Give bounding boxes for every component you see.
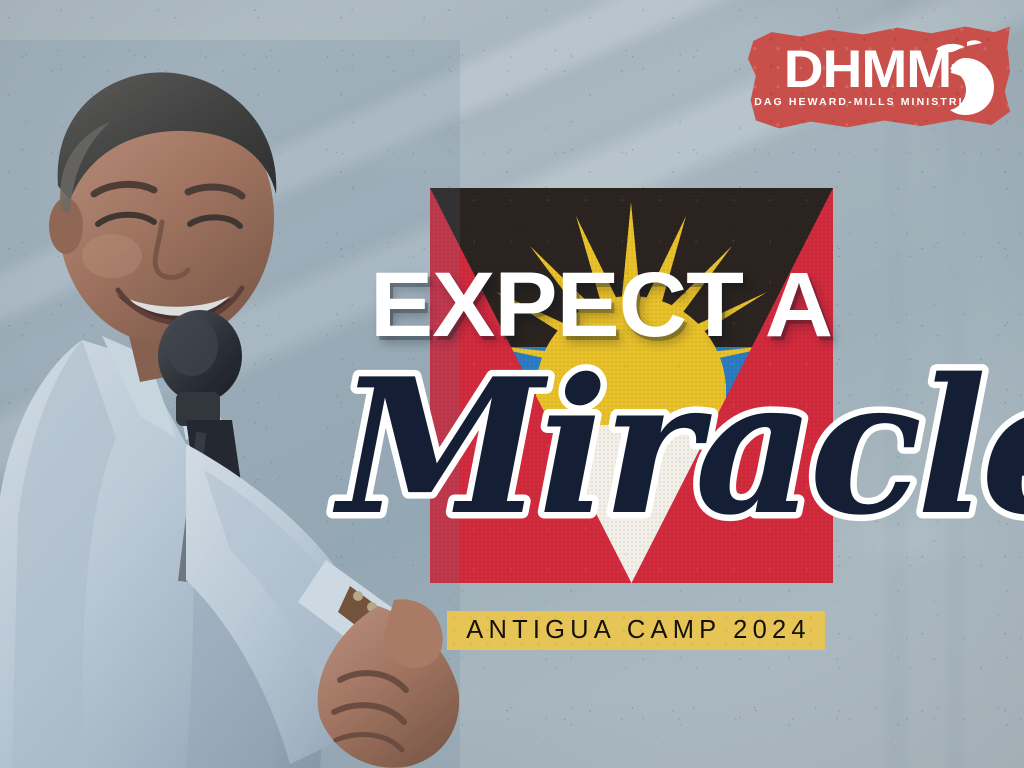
poster-canvas: EXPECT A Miracle Miracle ANTIGUA CAMP 20… (0, 0, 1024, 768)
globe-icon (932, 36, 998, 116)
speaker-photo (0, 40, 460, 768)
event-banner-text: ANTIGUA CAMP 2024 (461, 616, 810, 645)
page-title: EXPECT A (370, 264, 832, 347)
dhmm-logo[interactable]: DHMM DAG HEWARD-MILLS MINISTRIES (748, 22, 1010, 134)
antigua-flag-panel (430, 188, 833, 583)
event-banner: ANTIGUA CAMP 2024 (447, 611, 825, 650)
flag-texture-overlay (430, 188, 833, 583)
logo-wordmark: DHMM (783, 46, 950, 95)
